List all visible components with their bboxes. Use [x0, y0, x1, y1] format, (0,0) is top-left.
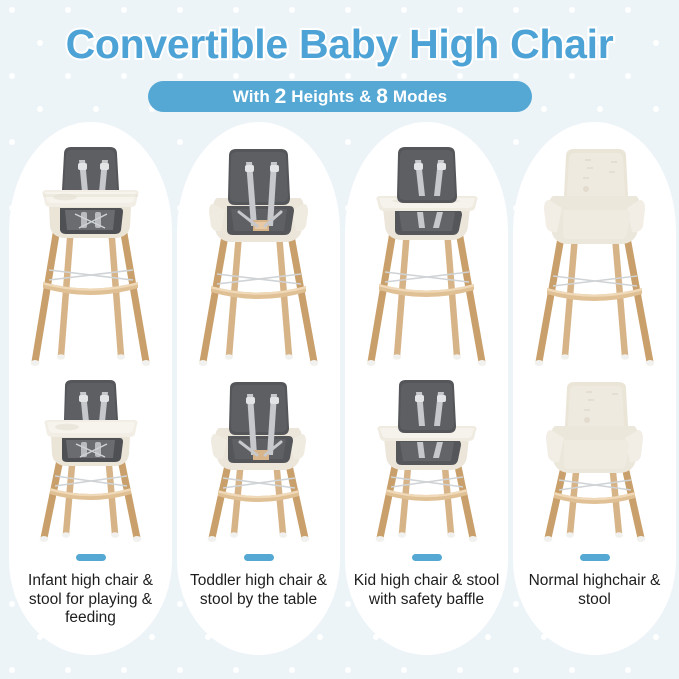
- chair-image-tall-with-tray: [9, 134, 172, 374]
- divider-bar: [244, 554, 274, 561]
- subtitle-part-post: Modes: [388, 87, 447, 106]
- divider-bar: [412, 554, 442, 561]
- chair-image-low-with-baffle: [345, 372, 508, 550]
- product-card-infant[interactable]: Infant high chair & stool for playing & …: [9, 122, 172, 655]
- caption-block-kid: Kid high chair & stool with safety baffl…: [345, 554, 508, 609]
- chair-image-tall-no-tray: [177, 134, 340, 374]
- card-caption: Infant high chair & stool for playing & …: [9, 572, 172, 628]
- product-card-normal[interactable]: Normal highchair & stool: [513, 122, 676, 655]
- subtitle-part-pre: With: [233, 87, 275, 106]
- subtitle-badge-label: With 2 Heights & 8 Modes: [233, 88, 448, 105]
- card-caption: Normal highchair & stool: [513, 572, 676, 609]
- subtitle-modes-count: 8: [376, 85, 388, 108]
- caption-block-toddler: Toddler high chair & stool by the table: [177, 554, 340, 609]
- page-title: Convertible Baby High Chair: [0, 20, 679, 68]
- divider-bar: [580, 554, 610, 561]
- card-caption: Kid high chair & stool with safety baffl…: [345, 572, 508, 609]
- chair-image-low-plain: [513, 372, 676, 550]
- chair-image-tall-plain: [513, 134, 676, 374]
- product-card-kid[interactable]: Kid high chair & stool with safety baffl…: [345, 122, 508, 655]
- product-card-grid: Infant high chair & stool for playing & …: [0, 122, 679, 657]
- subtitle-badge: With 2 Heights & 8 Modes: [148, 81, 532, 112]
- divider-bar: [76, 554, 106, 561]
- subtitle-part-mid: Heights &: [286, 87, 376, 106]
- header: Convertible Baby High Chair With 2 Heigh…: [0, 0, 679, 122]
- caption-block-normal: Normal highchair & stool: [513, 554, 676, 609]
- subtitle-heights-count: 2: [275, 85, 287, 108]
- chair-image-tall-with-baffle: [345, 134, 508, 374]
- chair-image-low-no-tray: [177, 372, 340, 550]
- caption-block-infant: Infant high chair & stool for playing & …: [9, 554, 172, 628]
- chair-image-low-with-tray: [9, 372, 172, 550]
- card-caption: Toddler high chair & stool by the table: [177, 572, 340, 609]
- product-card-toddler[interactable]: Toddler high chair & stool by the table: [177, 122, 340, 655]
